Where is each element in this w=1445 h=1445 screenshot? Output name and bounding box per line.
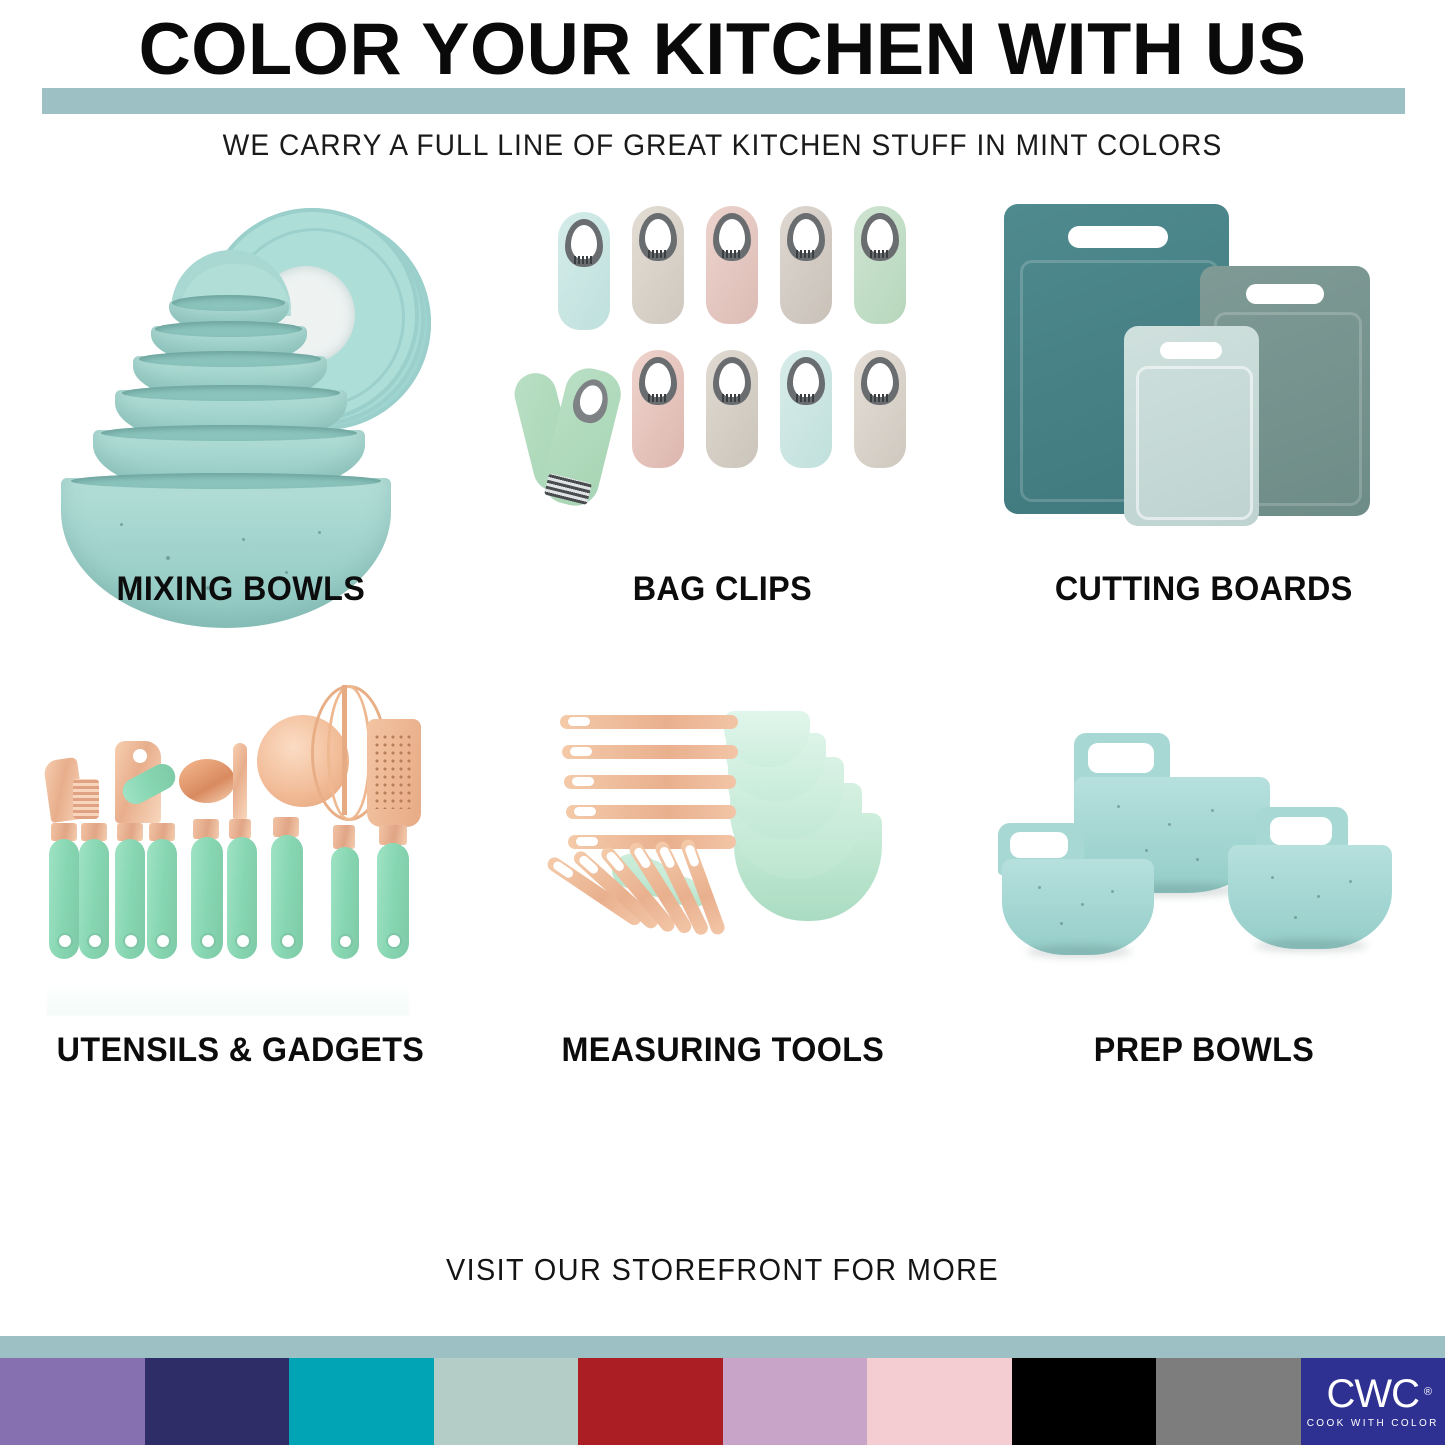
swatch-lilac: [723, 1358, 868, 1445]
product-category-grid: MIXING BOWLS: [0, 190, 1445, 1070]
category-card-cutting-boards[interactable]: CUTTING BOARDS: [963, 190, 1445, 609]
swatch-sage: [434, 1358, 579, 1445]
logo-wordmark: CWC®: [1326, 1374, 1419, 1414]
swatch-red: [578, 1358, 723, 1445]
swatch-gray: [1156, 1358, 1301, 1445]
swatch-black: [1012, 1358, 1157, 1445]
swatch-navy: [145, 1358, 290, 1445]
category-label: MEASURING TOOLS: [561, 1031, 884, 1070]
swatch-purple: [0, 1358, 145, 1445]
category-card-prep-bowls[interactable]: PREP BOWLS: [963, 667, 1445, 1070]
measuring-tools-image: [502, 667, 942, 1027]
product-row-2: UTENSILS & GADGETS: [0, 667, 1445, 1070]
swatch-pink: [867, 1358, 1012, 1445]
product-row-1: MIXING BOWLS: [0, 190, 1445, 609]
category-label: BAG CLIPS: [633, 570, 812, 609]
brand-logo[interactable]: CWC® COOK WITH COLOR: [1301, 1358, 1445, 1445]
page-header: COLOR YOUR KITCHEN WITH US WE CARRY A FU…: [0, 0, 1445, 185]
brand-color-swatch-strip: CWC® COOK WITH COLOR: [0, 1358, 1445, 1445]
cutting-boards-image: [984, 190, 1424, 570]
category-label: PREP BOWLS: [1094, 1031, 1314, 1070]
footer-accent-band: [0, 1336, 1445, 1358]
utensils-gadgets-image: [21, 667, 461, 1027]
swatch-teal: [289, 1358, 434, 1445]
category-card-mixing-bowls[interactable]: MIXING BOWLS: [0, 190, 482, 609]
page-subtitle: WE CARRY A FULL LINE OF GREAT KITCHEN ST…: [43, 128, 1401, 164]
category-card-bag-clips[interactable]: BAG CLIPS: [482, 190, 964, 609]
logo-tagline: COOK WITH COLOR: [1307, 1418, 1439, 1429]
registered-trademark-icon: ®: [1424, 1372, 1432, 1412]
prep-bowls-image: [984, 667, 1424, 1027]
bag-clips-image: [502, 190, 942, 570]
mixing-bowls-image: [21, 190, 461, 570]
category-card-measuring-tools[interactable]: MEASURING TOOLS: [482, 667, 964, 1070]
header-accent-band: [42, 88, 1405, 114]
category-label: UTENSILS & GADGETS: [57, 1031, 425, 1070]
page-title: COLOR YOUR KITCHEN WITH US: [7, 10, 1438, 90]
category-label: CUTTING BOARDS: [1055, 570, 1353, 609]
category-card-utensils-gadgets[interactable]: UTENSILS & GADGETS: [0, 667, 482, 1070]
category-label: MIXING BOWLS: [116, 570, 365, 609]
storefront-cta[interactable]: VISIT OUR STOREFRONT FOR MORE: [51, 1252, 1395, 1288]
